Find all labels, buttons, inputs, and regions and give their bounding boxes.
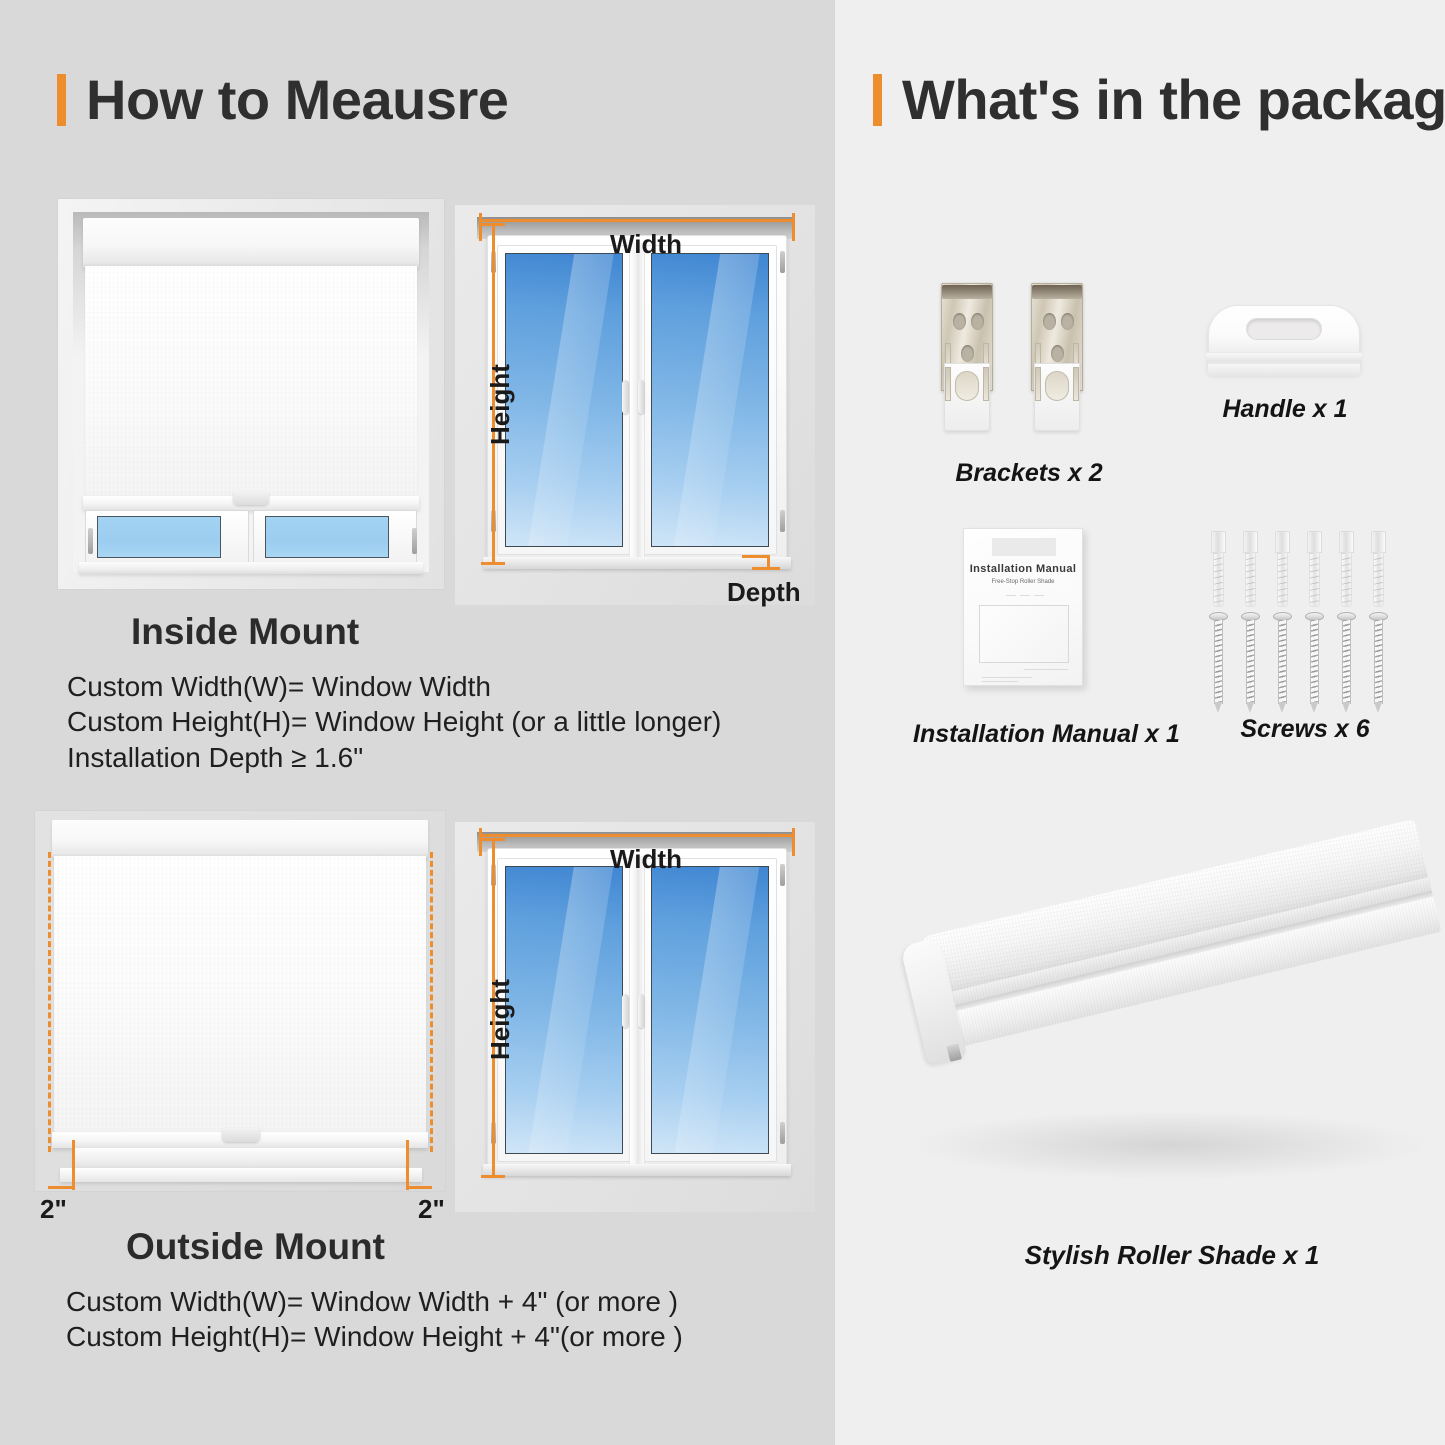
inside-spec-width: Custom Width(W)= Window Width — [67, 669, 721, 704]
screw-icon-2 — [1244, 612, 1257, 712]
bracket-icon-2 — [1031, 283, 1083, 433]
wall-anchor-icon-1 — [1211, 531, 1226, 607]
whats-in-package-heading: What's in the package — [873, 72, 1445, 128]
inside-mount-title: Inside Mount — [131, 611, 359, 653]
inside-mount-window-diagram: Width Height Depth — [455, 205, 815, 605]
outside-mount-title: Outside Mount — [126, 1226, 385, 1268]
outside-mount-specs: Custom Width(W)= Window Width + 4" (or m… — [66, 1284, 683, 1355]
height-label-left-outside: Height — [485, 979, 516, 1060]
outside-shade-fabric — [54, 856, 426, 1134]
roller-shade-label: Stylish Roller Shade x 1 — [1012, 1240, 1332, 1271]
shade-grip-handle[interactable] — [233, 492, 269, 505]
screw-icon-6 — [1372, 612, 1385, 712]
outside-shade-grip-handle[interactable] — [222, 1128, 260, 1142]
outside-mount-shade-illustration — [34, 810, 446, 1192]
bracket-icon-1 — [941, 283, 993, 433]
inside-mount-specs: Custom Width(W)= Window Width Custom Hei… — [67, 669, 721, 775]
wall-anchor-icon-3 — [1275, 531, 1290, 607]
right-overhang-guide — [430, 852, 433, 1152]
handle-grip-hole — [1246, 318, 1322, 340]
manual-cover-subtitle: Free-Stop Roller Shade — [964, 579, 1082, 585]
how-to-measure-title: How to Meausre — [86, 72, 508, 128]
wall-anchor-icon-6 — [1371, 531, 1386, 607]
inside-mount-shade-illustration — [57, 198, 445, 590]
depth-label: Depth — [727, 577, 801, 608]
installation-manual-label: Installation Manual x 1 — [913, 720, 1135, 749]
roller-shade-item: Stylish Roller Shade x 1 — [890, 860, 1445, 1220]
outside-mount-window-diagram: Width Height — [455, 822, 815, 1212]
overhang-left-label: 2" — [40, 1194, 67, 1225]
infographic-page: How to Meausre — [0, 0, 1445, 1445]
screw-icon-1 — [1212, 612, 1225, 712]
roller-shade-icon — [899, 819, 1445, 1118]
outside-spec-height: Custom Height(H)= Window Height + 4"(or … — [66, 1319, 683, 1354]
outside-spec-width: Custom Width(W)= Window Width + 4" (or m… — [66, 1284, 683, 1319]
whats-in-package-title: What's in the package — [902, 72, 1445, 128]
width-label-top-outside: Width — [610, 844, 682, 875]
handle-label: Handle x 1 — [1222, 395, 1348, 424]
screw-icon-3 — [1276, 612, 1289, 712]
shade-fabric — [85, 266, 417, 498]
wall-anchor-icon-5 — [1339, 531, 1354, 607]
screw-icon-4 — [1308, 612, 1321, 712]
wall-anchor-icon-2 — [1243, 531, 1258, 607]
how-to-measure-heading: How to Meausre — [57, 72, 508, 128]
inside-spec-height: Custom Height(H)= Window Height (or a li… — [67, 704, 721, 739]
manual-booklet-icon: Installation Manual Free-Stop Roller Sha… — [963, 528, 1083, 686]
brackets-label: Brackets x 2 — [949, 459, 1109, 488]
shade-headrail — [83, 218, 419, 268]
outside-shade-headrail — [52, 820, 428, 858]
screws-label: Screws x 6 — [1222, 715, 1388, 744]
accent-bar-icon-right — [873, 74, 882, 126]
accent-bar-icon — [57, 74, 66, 126]
wall-anchor-icon-4 — [1307, 531, 1322, 607]
manual-cover-title: Installation Manual — [964, 563, 1082, 575]
left-overhang-guide — [48, 852, 51, 1152]
inside-spec-depth: Installation Depth ≥ 1.6" — [67, 740, 721, 775]
height-label-left: Height — [485, 364, 516, 445]
overhang-right-label: 2" — [418, 1194, 445, 1225]
screw-icon-5 — [1340, 612, 1353, 712]
width-label-top: Width — [610, 229, 682, 260]
